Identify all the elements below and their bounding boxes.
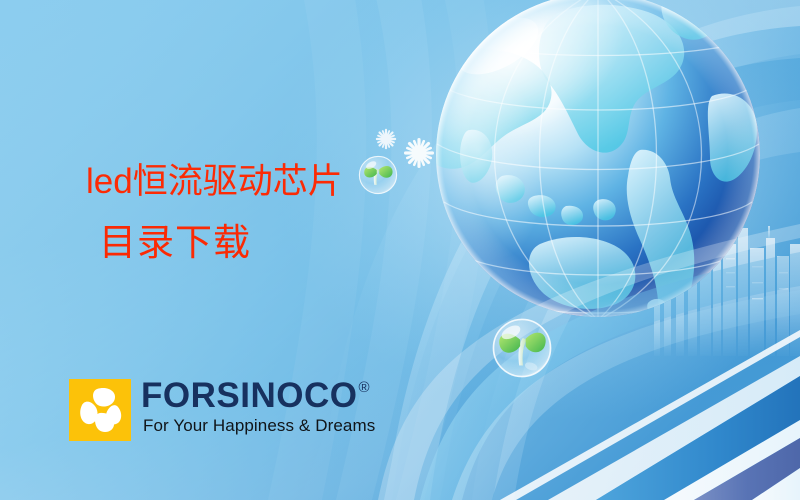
logo-wordmark: FORSINOCO (141, 379, 357, 413)
forsinoco-pinwheel-mark-icon (69, 379, 131, 441)
logo-text-block: FORSINOCO ® For Your Happiness & Dreams (141, 379, 375, 436)
banner-canvas: led恒流驱动芯片 目录下载 FORSINOCO (0, 0, 800, 500)
company-logo: FORSINOCO ® For Your Happiness & Dreams (69, 379, 375, 441)
logo-tagline: For Your Happiness & Dreams (143, 416, 375, 436)
registered-trademark-icon: ® (358, 380, 369, 395)
